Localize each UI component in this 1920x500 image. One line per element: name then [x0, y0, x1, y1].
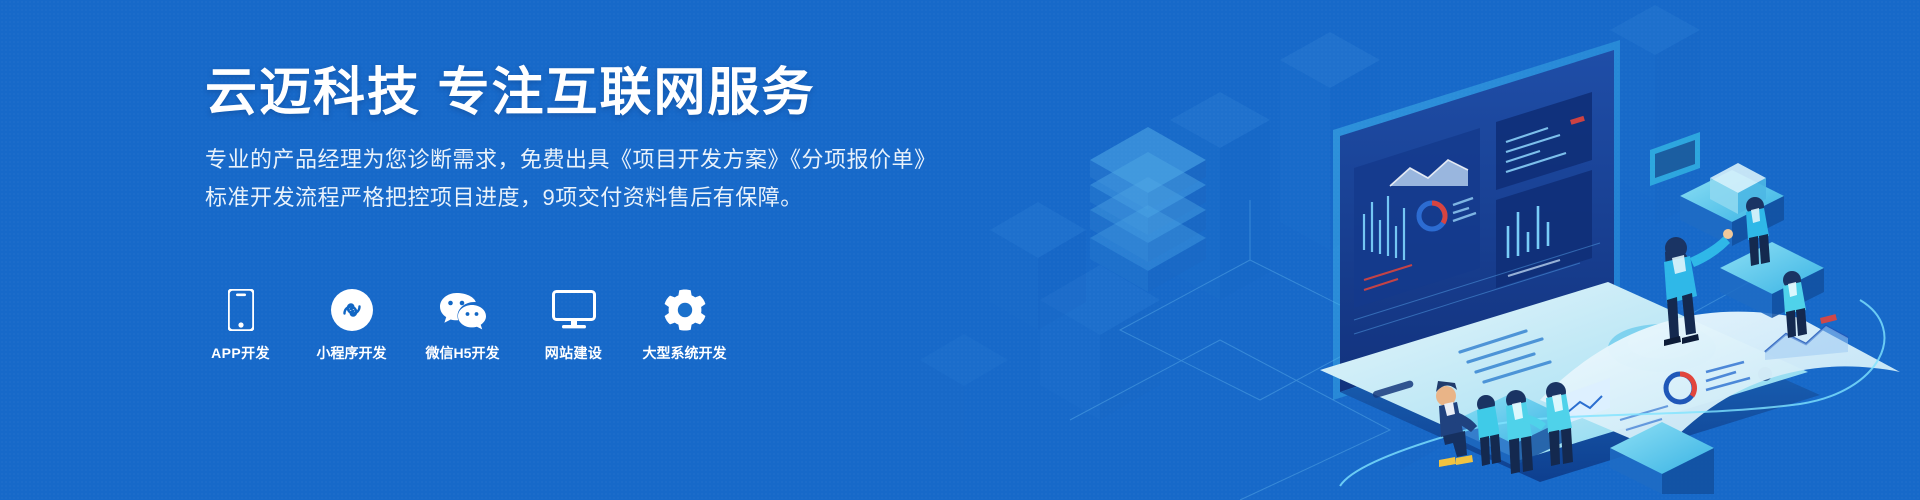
- server-stack: [1090, 127, 1206, 292]
- service-label-website: 网站建设: [545, 345, 603, 361]
- service-item-mini-program[interactable]: 小程序开发: [314, 287, 389, 361]
- promo-banner: 云迈科技 专注互联网服务 专业的产品经理为您诊断需求，免费出具《项目开发方案》《…: [0, 0, 1920, 500]
- subtitle-line-2: 标准开发流程严格把控项目进度，9项交付资料售后有保障。: [205, 182, 945, 213]
- service-label-large-system: 大型系统开发: [643, 345, 727, 361]
- isometric-illustration-svg: [920, 0, 1920, 500]
- monitor-icon: [552, 287, 596, 333]
- illustration: [920, 0, 1920, 500]
- service-item-website[interactable]: 网站建设: [536, 287, 611, 361]
- subtitle-line-1: 专业的产品经理为您诊断需求，免费出具《项目开发方案》《分项报价单》: [205, 144, 945, 175]
- mobile-phone-icon: [228, 287, 254, 333]
- service-item-large-system[interactable]: 大型系统开发: [647, 287, 722, 361]
- page-title: 云迈科技 专注互联网服务: [205, 62, 945, 124]
- subtitle: 专业的产品经理为您诊断需求，免费出具《项目开发方案》《分项报价单》 标准开发流程…: [205, 124, 945, 213]
- service-item-wechat-h5[interactable]: 微信H5开发: [425, 287, 500, 361]
- wechat-icon: [438, 287, 488, 333]
- service-item-app[interactable]: APP开发: [203, 287, 278, 361]
- service-list: APP开发 小程序开发: [203, 287, 722, 361]
- service-label-mini-program: 小程序开发: [317, 345, 387, 361]
- service-label-wechat-h5: 微信H5开发: [426, 345, 500, 361]
- gear-icon: [664, 287, 706, 333]
- service-label-app: APP开发: [211, 345, 270, 361]
- mini-program-icon: [331, 287, 373, 333]
- copy-block: 云迈科技 专注互联网服务 专业的产品经理为您诊断需求，免费出具《项目开发方案》《…: [205, 62, 945, 220]
